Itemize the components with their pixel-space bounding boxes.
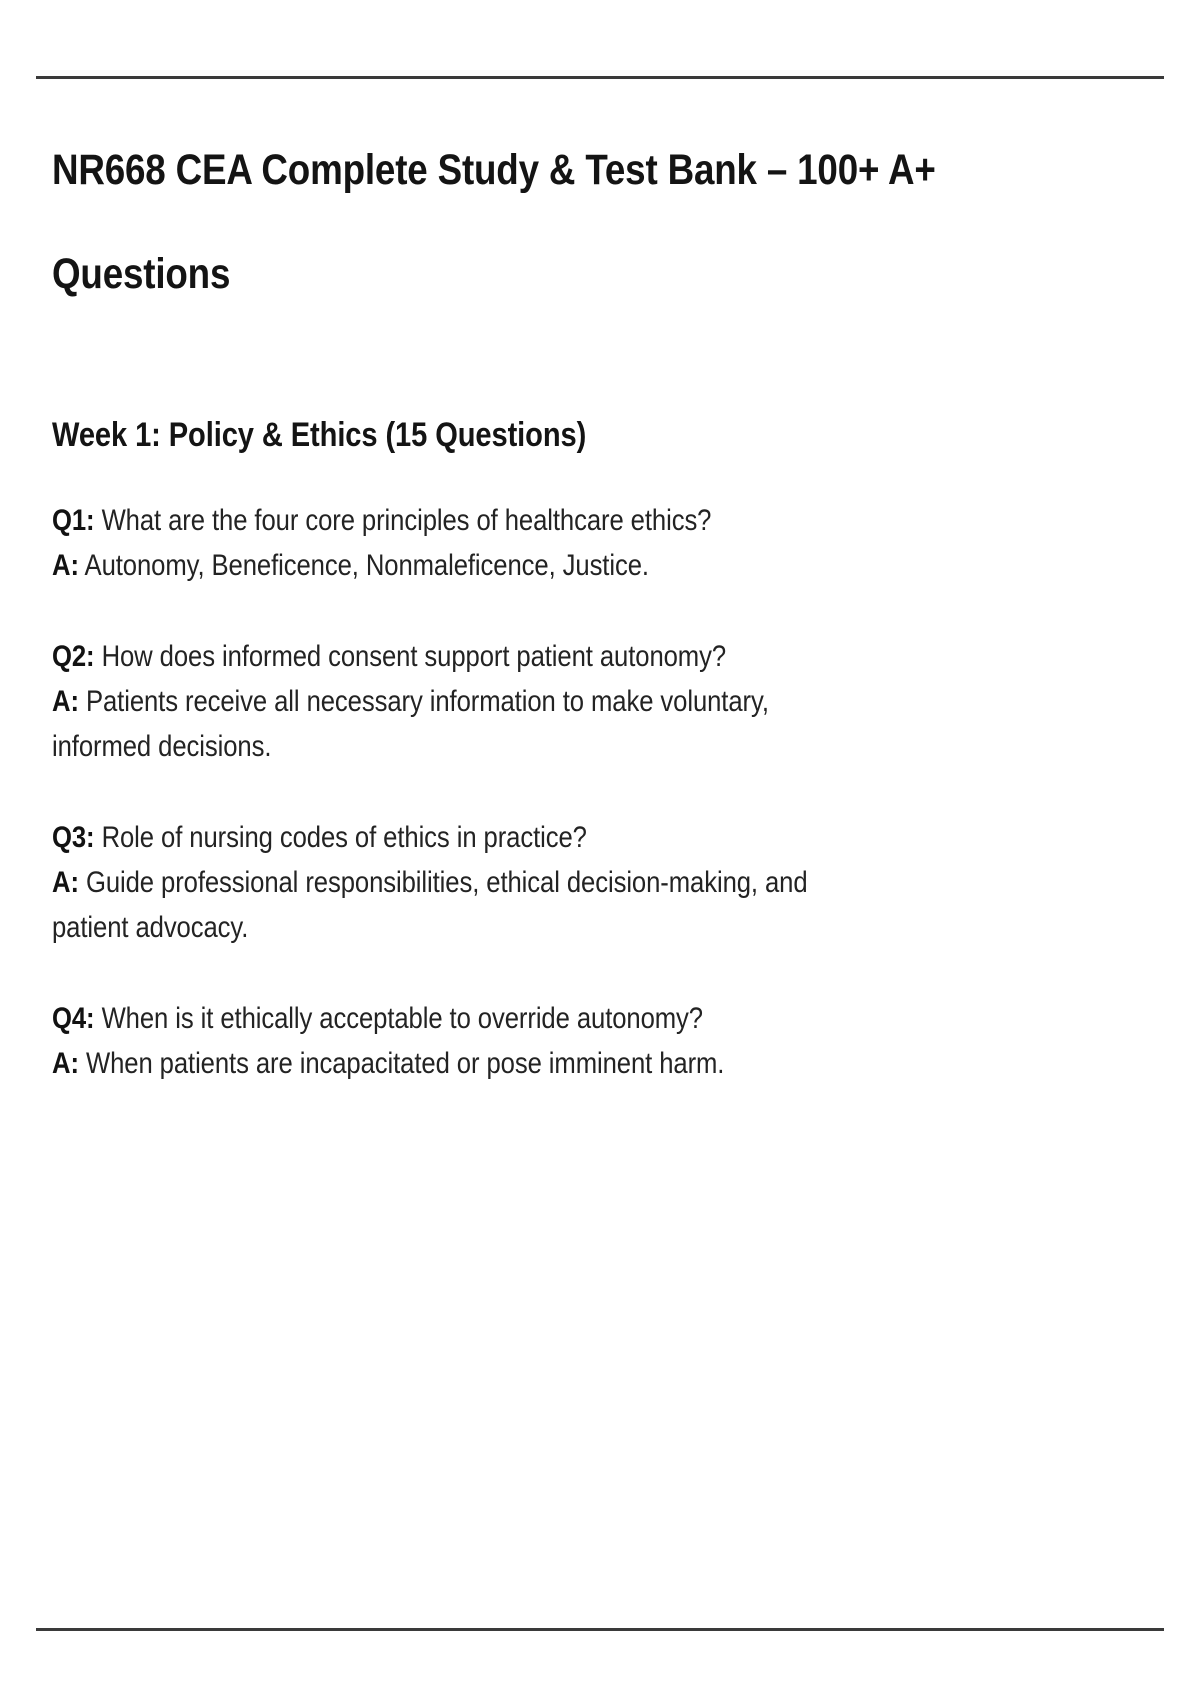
question-text: When is it ethically acceptable to overr… bbox=[102, 1002, 703, 1035]
answer-line: A: When patients are incapacitated or po… bbox=[52, 1041, 1072, 1086]
question-line-inner: Q4: When is it ethically acceptable to o… bbox=[52, 996, 1072, 1041]
qa-block: Q3: Role of nursing codes of ethics in p… bbox=[52, 769, 1072, 950]
qa-block: Q2: How does informed consent support pa… bbox=[52, 588, 1072, 769]
answer-line: A: Guide professional responsibilities, … bbox=[52, 860, 1072, 905]
header-divider-rule bbox=[36, 76, 1164, 79]
answer-label: A: bbox=[52, 685, 79, 718]
page-title-line-1-text: NR668 CEA Complete Study & Test Bank – 1… bbox=[52, 118, 1072, 222]
answer-line: A: Autonomy, Beneficence, Nonmaleficence… bbox=[52, 543, 1072, 588]
answer-continuation-text: informed decisions. bbox=[52, 724, 1072, 769]
question-label: Q3: bbox=[52, 821, 95, 854]
answer-text: Patients receive all necessary informati… bbox=[86, 685, 769, 718]
answer-line-inner: A: Autonomy, Beneficence, Nonmaleficence… bbox=[52, 543, 1072, 588]
answer-label: A: bbox=[52, 1047, 79, 1080]
page-title-line-2: Questions bbox=[52, 222, 1072, 326]
question-line-inner: Q3: Role of nursing codes of ethics in p… bbox=[52, 815, 1072, 860]
answer-text: When patients are incapacitated or pose … bbox=[86, 1047, 724, 1080]
answer-line-inner: A: Guide professional responsibilities, … bbox=[52, 860, 1072, 905]
section-heading-text: Week 1: Policy & Ethics (15 Questions) bbox=[52, 414, 1072, 456]
answer-continuation-line: patient advocacy. bbox=[52, 905, 1072, 950]
answer-label: A: bbox=[52, 549, 79, 582]
answer-text: Guide professional responsibilities, eth… bbox=[86, 866, 808, 899]
answer-text: Autonomy, Beneficence, Nonmaleficence, J… bbox=[85, 549, 649, 582]
answer-line-inner: A: Patients receive all necessary inform… bbox=[52, 679, 1072, 724]
footer-divider-rule bbox=[36, 1628, 1164, 1631]
page-title-line-2-text: Questions bbox=[52, 222, 1072, 326]
question-text: Role of nursing codes of ethics in pract… bbox=[102, 821, 587, 854]
question-text: How does informed consent support patien… bbox=[102, 640, 726, 673]
question-text: What are the four core principles of hea… bbox=[102, 504, 712, 537]
document-page: NR668 CEA Complete Study & Test Bank – 1… bbox=[0, 0, 1200, 1700]
question-line: Q2: How does informed consent support pa… bbox=[52, 634, 1072, 679]
question-line-inner: Q1: What are the four core principles of… bbox=[52, 498, 1072, 543]
question-line-inner: Q2: How does informed consent support pa… bbox=[52, 634, 1072, 679]
answer-continuation-text: patient advocacy. bbox=[52, 905, 1072, 950]
answer-line: A: Patients receive all necessary inform… bbox=[52, 679, 1072, 724]
qa-block: Q4: When is it ethically acceptable to o… bbox=[52, 950, 1072, 1086]
question-line: Q4: When is it ethically acceptable to o… bbox=[52, 996, 1072, 1041]
question-line: Q1: What are the four core principles of… bbox=[52, 498, 1072, 543]
answer-continuation-line: informed decisions. bbox=[52, 724, 1072, 769]
question-label: Q4: bbox=[52, 1002, 95, 1035]
document-body: NR668 CEA Complete Study & Test Bank – 1… bbox=[52, 118, 1072, 1086]
qa-block: Q1: What are the four core principles of… bbox=[52, 456, 1072, 588]
section-heading: Week 1: Policy & Ethics (15 Questions) bbox=[52, 326, 1072, 456]
answer-label: A: bbox=[52, 866, 79, 899]
page-title-line-1: NR668 CEA Complete Study & Test Bank – 1… bbox=[52, 118, 1072, 222]
page-title: NR668 CEA Complete Study & Test Bank – 1… bbox=[52, 118, 1072, 326]
question-line: Q3: Role of nursing codes of ethics in p… bbox=[52, 815, 1072, 860]
question-label: Q1: bbox=[52, 504, 95, 537]
question-label: Q2: bbox=[52, 640, 95, 673]
answer-line-inner: A: When patients are incapacitated or po… bbox=[52, 1041, 1072, 1086]
